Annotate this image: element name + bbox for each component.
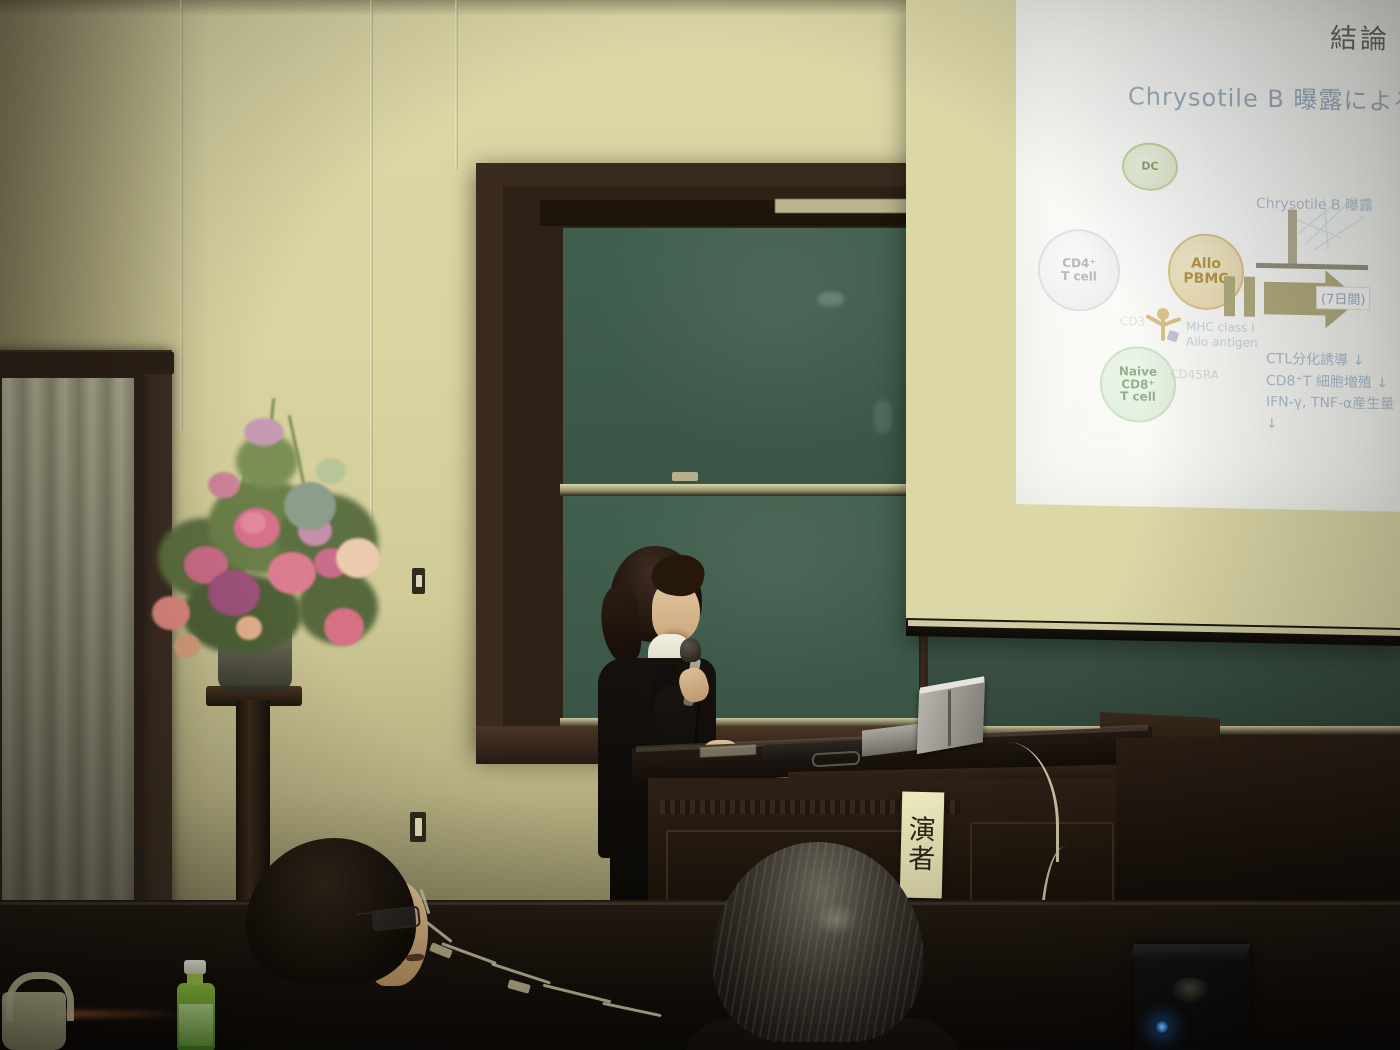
- wicker-basket: [2, 992, 66, 1050]
- slide-tick-2: [1244, 277, 1255, 317]
- bottle-label: [179, 1004, 213, 1046]
- slide-bubble-cd4: CD4⁺ T cell: [1038, 228, 1120, 312]
- slide-heading: 結論: [1330, 16, 1390, 56]
- slide-subheading: Chrysotile B 曝露によるC: [1128, 76, 1400, 119]
- podium-far-right-mass: [1116, 738, 1400, 908]
- wall-pilaster-right: [455, 0, 458, 170]
- slide-label-cd3: CD3: [1120, 314, 1145, 329]
- microphone-head: [680, 638, 701, 662]
- beverage-bottle: [176, 960, 216, 1050]
- slide-label-results: CTL分化誘導 ↓ CD8⁺T 細胞増殖 ↓ IFN-γ, TNF-α産生量 ↓: [1266, 349, 1400, 439]
- floor-baseboard-line: [0, 902, 1400, 905]
- window-header-trim: [0, 352, 174, 374]
- slide-label-duration: (7日間): [1316, 286, 1370, 310]
- bubble-dc-label: DC: [1141, 161, 1158, 173]
- bottle-neck: [187, 973, 203, 985]
- flower-arrangement: [148, 398, 378, 668]
- bubble-naive-label: Naive CD8⁺ T cell: [1119, 365, 1157, 404]
- podium-eyeglasses: [812, 751, 860, 768]
- chalk-smudge-b: [874, 400, 892, 434]
- audience-member-2: [706, 842, 936, 1050]
- slide-tick-1: [1224, 276, 1235, 316]
- amplifier-power-led: [1155, 1020, 1169, 1034]
- chalkboard-panel-upper: [563, 228, 919, 484]
- bubble-cd4-label: CD4⁺ T cell: [1061, 257, 1097, 283]
- tcr-receptor-icon: [1140, 300, 1186, 353]
- chalkboard-middle-rail: [560, 484, 922, 496]
- chalkboard-lip-highlight: [775, 199, 920, 213]
- floor-light-streak: [56, 1010, 186, 1018]
- wall-switch-upper: [412, 568, 425, 594]
- slide-exposure-bar: [1256, 263, 1368, 270]
- bottle-cap: [184, 960, 206, 974]
- presentation-slide: 結論 Chrysotile B 曝露によるC DC CD4⁺ T cell Al…: [1016, 0, 1400, 512]
- chalk-smudge-a: [818, 292, 844, 306]
- audience-2-hair-strands: [712, 842, 924, 1042]
- laptop-hinge: [948, 690, 951, 747]
- slide-exposure-stem: [1288, 209, 1297, 265]
- slide-bubble-dc: DC: [1122, 142, 1178, 191]
- lecture-hall-photo: 結論 Chrysotile B 曝露によるC DC CD4⁺ T cell Al…: [0, 0, 1400, 1050]
- bubble-allo-label: Allo PBMC: [1183, 257, 1228, 287]
- curtain-shading: [2, 378, 134, 988]
- amplifier-speaker-cone: [1170, 978, 1210, 1004]
- slide-bubble-naive-cd8: Naive CD8⁺ T cell: [1100, 346, 1176, 424]
- amplifier-top-face: [1130, 944, 1250, 960]
- chalk-eraser: [672, 472, 698, 481]
- slide-label-cd45ra: CD45RA: [1170, 367, 1219, 382]
- audience-2-hair-crown: [814, 902, 858, 936]
- slide-label-exposure: Chrysotile B 曝露: [1256, 193, 1373, 215]
- placard-char-1: 演: [909, 816, 937, 846]
- audience-member-1: [236, 838, 466, 1050]
- slide-label-mhc: MHC class I Allo antigen: [1186, 319, 1258, 350]
